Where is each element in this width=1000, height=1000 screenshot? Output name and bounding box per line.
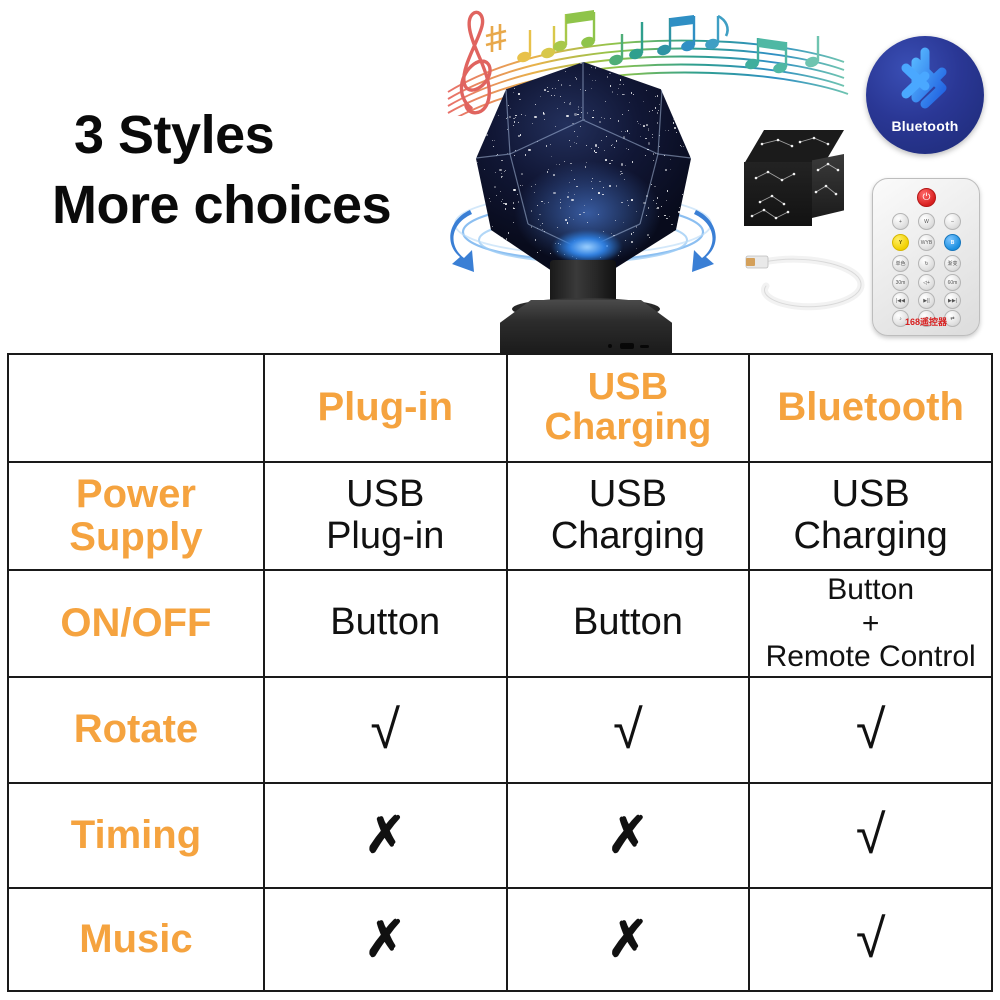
cross-mark: ✗ [512, 914, 745, 964]
cell-text-line2: Charging [512, 516, 745, 558]
page-title: 3 Styles More choices [52, 100, 432, 240]
cell-text-line3: Remote Control [754, 640, 987, 674]
cell-timing-bluetooth: √ [749, 783, 992, 888]
cell-power-plugin: USB Plug-in [264, 462, 507, 570]
remote-button-30min[interactable]: 30m [892, 274, 909, 291]
bluetooth-badge: Bluetooth [866, 36, 984, 154]
row-label-onoff: ON/OFF [8, 570, 264, 677]
table-row-timing: Timing ✗ ✗ √ [8, 783, 992, 888]
row-label-power-supply: Power Supply [8, 462, 264, 570]
remote-button-wyb[interactable]: WYB [918, 234, 935, 251]
table-row-music: Music ✗ ✗ √ [8, 888, 992, 991]
hero-section: 3 Styles More choices [0, 0, 1000, 360]
header-cell-bluetooth: Bluetooth [749, 354, 992, 462]
cell-onoff-usb: Button [507, 570, 750, 677]
cell-music-usb: ✗ [507, 888, 750, 991]
cell-text-line1: USB [512, 474, 745, 516]
cell-rotate-bluetooth: √ [749, 677, 992, 783]
star-projector-lamp [438, 62, 728, 362]
cross-mark: ✗ [269, 914, 502, 964]
remote-button-fade[interactable]: 渐变 [944, 255, 961, 272]
remote-button-w[interactable]: W [918, 213, 935, 230]
cell-rotate-usb: √ [507, 677, 750, 783]
cell-text-line2: + [754, 607, 987, 641]
check-mark: √ [754, 703, 987, 757]
cell-text-line2: Plug-in [269, 516, 502, 558]
table-row-power-supply: Power Supply USB Plug-in USB Charging US… [8, 462, 992, 570]
remote-model-label: 168遥控器 [873, 315, 979, 328]
cross-mark: ✗ [269, 810, 502, 860]
header-usb-line1: USB [512, 368, 745, 408]
remote-power-button[interactable]: ⏻ [917, 188, 936, 207]
remote-button-solid[interactable]: 单色 [892, 255, 909, 272]
comparison-table: Plug-in USB Charging Bluetooth Power Sup… [7, 353, 993, 992]
check-mark: √ [269, 703, 502, 757]
check-mark: √ [754, 808, 987, 862]
row-label-rotate: Rotate [8, 677, 264, 783]
cross-mark: ✗ [512, 810, 745, 860]
usb-cable [744, 248, 874, 316]
projector-led-glow [552, 230, 622, 264]
row-label-music: Music [8, 888, 264, 991]
constellation-gift-box [738, 130, 850, 238]
remote-button-rotate[interactable]: ↻ [918, 255, 935, 272]
cell-text-line1: USB [269, 474, 502, 516]
remote-button-vol-up[interactable]: ◁+ [918, 274, 935, 291]
cell-music-bluetooth: √ [749, 888, 992, 991]
table-row-onoff: ON/OFF Button Button Button + Remote Con… [8, 570, 992, 677]
cell-text-line1: Button [269, 602, 502, 644]
row-label-timing: Timing [8, 783, 264, 888]
row-label-line1: Music [13, 918, 259, 961]
table-row-rotate: Rotate √ √ √ [8, 677, 992, 783]
remote-button-minus[interactable]: – [944, 213, 961, 230]
cell-timing-plugin: ✗ [264, 783, 507, 888]
cell-text-line1: Button [512, 602, 745, 644]
cell-power-bluetooth: USB Charging [749, 462, 992, 570]
bluetooth-badge-label: Bluetooth [866, 118, 984, 134]
cell-power-usb: USB Charging [507, 462, 750, 570]
projector-dome [476, 62, 691, 272]
remote-button-play[interactable]: ▶|| [918, 292, 935, 309]
header-usb-line2: Charging [512, 408, 745, 448]
remote-button-y[interactable]: Y [892, 234, 909, 251]
row-label-line1: Rotate [13, 708, 259, 751]
row-label-line2: Supply [13, 516, 259, 559]
headline-line-2: More choices [52, 170, 432, 240]
remote-control: ⏻ + W – Y WYB B 单色 ↻ 渐变 30m ◁+ 60m |◀◀ ▶… [872, 178, 980, 336]
remote-button-prev[interactable]: |◀◀ [892, 292, 909, 309]
header-cell-plugin: Plug-in [264, 354, 507, 462]
remote-button-next[interactable]: ▶▶| [944, 292, 961, 309]
cell-onoff-bluetooth: Button + Remote Control [749, 570, 992, 677]
remote-button-b[interactable]: B [944, 234, 961, 251]
table-header-row: Plug-in USB Charging Bluetooth [8, 354, 992, 462]
comparison-table-wrapper: Plug-in USB Charging Bluetooth Power Sup… [7, 353, 993, 985]
remote-button-60min[interactable]: 60m [944, 274, 961, 291]
row-label-line1: Power [13, 473, 259, 516]
header-bluetooth-label: Bluetooth [754, 387, 987, 429]
gift-box-constellation-art [738, 130, 850, 238]
row-label-line1: Timing [13, 814, 259, 857]
cell-text-line1: Button [754, 573, 987, 607]
header-cell-empty [8, 354, 264, 462]
cell-rotate-plugin: √ [264, 677, 507, 783]
cell-music-plugin: ✗ [264, 888, 507, 991]
header-plugin-label: Plug-in [269, 387, 502, 429]
cell-text-line1: USB [754, 474, 987, 516]
remote-button-plus[interactable]: + [892, 213, 909, 230]
header-cell-usb-charging: USB Charging [507, 354, 750, 462]
cell-text-line2: Charging [754, 516, 987, 558]
check-mark: √ [512, 703, 745, 757]
cell-onoff-plugin: Button [264, 570, 507, 677]
headline-line-1: 3 Styles [52, 100, 432, 170]
row-label-line1: ON/OFF [13, 602, 259, 645]
cell-timing-usb: ✗ [507, 783, 750, 888]
check-mark: √ [754, 912, 987, 966]
